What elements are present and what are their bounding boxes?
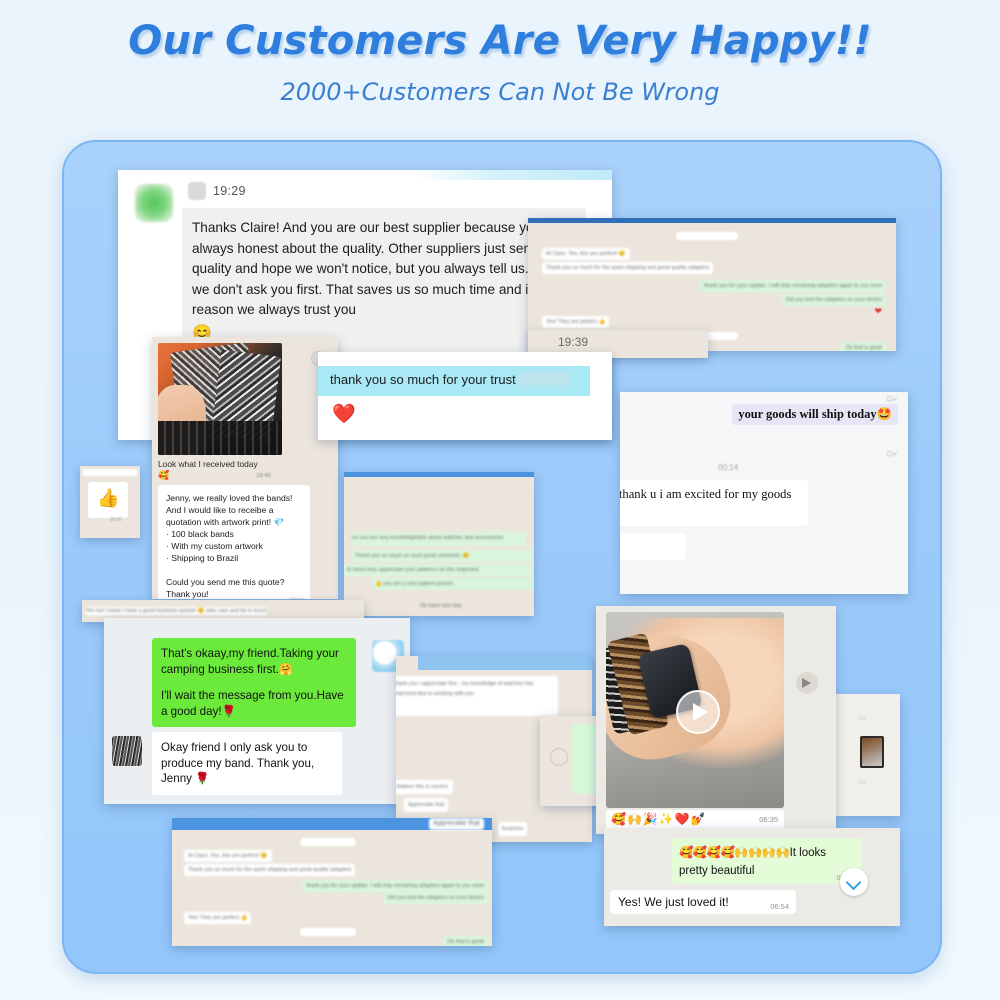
chat-line: thank you for your update. I will ship r… (700, 280, 886, 292)
date-pill (676, 232, 738, 240)
green-message-1: That's okaay,my friend.Taking your campi… (161, 646, 347, 677)
timestamp-label: 19:39 (558, 335, 588, 349)
read-receipt-icon: ☐✓ (887, 450, 898, 458)
cyan-message-bubble: thank you so much for your trust (318, 366, 590, 396)
chat-line: business (498, 822, 527, 836)
center-timestamp: 00:14 (718, 463, 738, 472)
forward-icon[interactable] (796, 672, 818, 694)
chat-line: Did you test the adapters on your device (384, 892, 489, 904)
green-message-2: I'll wait the message from you.Have a go… (161, 688, 347, 719)
page-subtitle: 2000+Customers Can Not Be Wrong (0, 64, 1000, 106)
card-header-bar (528, 218, 896, 223)
chat-line: Yes! They are perfect 👍 (184, 912, 251, 924)
message-timestamp: 20:58 (289, 598, 304, 599)
chat-line: thank you I appreciate this - my knowled… (396, 676, 558, 716)
white-message: Okay friend I only ask you to produce my… (161, 740, 333, 787)
sender-name-redacted (188, 182, 206, 200)
screenshot-card-received-bands: Look what I received today 🥰 18:40 Jenny… (152, 337, 338, 599)
chat-line: Thank you so much for the quick shipping… (542, 262, 713, 274)
caption-timestamp: 18:40 (256, 473, 271, 479)
top-note: Appreciate that (429, 818, 484, 830)
heart-reaction-icon: ❤️ (332, 402, 356, 426)
photo-caption: Look what I received today (158, 459, 258, 469)
chat-line: I believe this is correct. (396, 780, 453, 794)
avatar (112, 736, 142, 766)
incoming-bubble-1: Hi my bro thank u i am excited for my go… (620, 480, 808, 526)
thank-you-text: thank you so much for your trust (330, 372, 516, 387)
outgoing-green-bubble: That's okaay,my friend.Taking your campi… (152, 638, 356, 727)
chat-line: Ok that is great (443, 936, 488, 946)
screenshot-card-goods-shipping: ☐✓ your goods will ship today🤩 ☐✓ 00:14 … (620, 392, 908, 594)
thumbs-up-bubble: 👍 (88, 482, 128, 518)
chat-line: 👍 you are a very patient person. (372, 578, 532, 590)
outgoing-green-bubble: 🥰🥰🥰🥰🙌🙌🙌🙌It looks pretty beautiful 08:39 (672, 838, 862, 884)
chat-line: Ok that is great (841, 342, 886, 351)
keyboard (158, 421, 282, 455)
incoming-bubble-2: Thank u (620, 533, 686, 560)
chat-line: Hi Clare, Yes, this are perfect! 😊 (184, 850, 272, 862)
preview-line (83, 469, 137, 476)
card-top-strip (118, 170, 612, 180)
forward-icon[interactable] (550, 748, 568, 766)
read-receipt-icon: ☐✓ (858, 780, 867, 786)
thumbs-up-icon: 👍 (97, 488, 119, 509)
screenshot-card-thumbs-up: 👍 20:07 (80, 466, 140, 538)
page-header: Our Customers Are Very Happy!! 2000+Cust… (0, 0, 1000, 106)
page-title: Our Customers Are Very Happy!! (0, 0, 1000, 64)
celebration-emojis: 🥰🥰🥰🥰🙌🙌🙌🙌 (679, 847, 790, 859)
screenshot-card-camping-business: That's okaay,my friend.Taking your campi… (104, 618, 410, 804)
reaction-emojis: 🥰🙌🎉✨❤️💅 (611, 812, 707, 826)
caption-emoji: 🥰 (158, 470, 169, 481)
message-timestamp: 19:29 (213, 184, 246, 198)
screenshot-card-whatsapp-adapters-duplicate: Appreciate that Hi Clare, Yes, this are … (172, 818, 492, 946)
chat-line: Yes! They are perfect 👍 (542, 316, 609, 328)
chat-line: no you are very knowledgeable about watc… (352, 532, 526, 546)
read-receipt-icon: ☐✓ (858, 716, 867, 722)
read-receipt-icon: ☐✓ (887, 395, 898, 403)
outgoing-bubble: your goods will ship today🤩 (732, 404, 898, 425)
screenshot-card-knowledgeable-watches: no you are very knowledgeable about watc… (344, 472, 534, 616)
video-thumbnail[interactable] (606, 612, 784, 808)
chevron-down-icon[interactable] (840, 868, 868, 896)
message-text: Thanks Claire! And you are our best supp… (192, 218, 574, 321)
quote-request-bubble: Jenny, we really loved the bands! And I … (158, 485, 310, 599)
product-photo (158, 343, 282, 455)
screenshot-card-it-looks-beautiful: 🥰🥰🥰🥰🙌🙌🙌🙌It looks pretty beautiful 08:39 … (604, 828, 900, 926)
incoming-white-bubble: Yes! We just loved it! 06:54 (610, 890, 796, 914)
white-text: Yes! We just loved it! (618, 895, 729, 909)
chat-line: th heart,very appreciate your patience o… (344, 564, 532, 576)
incoming-white-bubble: Okay friend I only ask you to produce my… (152, 732, 342, 795)
screenshot-card-right-edge: ☐✓ ☐✓ (836, 694, 900, 816)
heart-icon: ❤ (874, 306, 882, 317)
video-timestamp: 06:35 (759, 815, 778, 824)
chat-line: Ok have nice day (420, 602, 462, 610)
quote-request-text: Jenny, we really loved the bands! And I … (166, 492, 302, 599)
chat-line: Thank you so much for the quick shipping… (184, 864, 355, 876)
card-header-bar (344, 472, 534, 477)
date-pill (300, 928, 356, 936)
reaction-bar: 🥰🙌🎉✨❤️💅 06:35 (606, 810, 784, 830)
screenshot-card-thank-you-trust: thank you so much for your trust ❤️ (318, 352, 612, 440)
message-timestamp: 20:07 (110, 517, 123, 523)
card-header-bar (418, 656, 592, 670)
screenshot-card-watch-video: 🥰🙌🎉✨❤️💅 06:35 (596, 606, 836, 834)
date-pill (300, 838, 356, 846)
chat-line: thank you for your update. I will ship r… (302, 880, 488, 892)
play-icon[interactable] (676, 690, 720, 734)
chat-line: Appreciate that (404, 798, 448, 812)
avatar (135, 184, 173, 222)
chat-line: Thank you so much on such good comment. … (352, 550, 532, 562)
message-timestamp: 06:54 (770, 902, 789, 911)
thumbnail-image (860, 736, 884, 768)
chat-line: Yes but I know I have a good business pa… (86, 607, 267, 615)
chat-line: Hi Clare, Yes, this are perfect! 😊 (542, 248, 630, 260)
redacted-name (518, 372, 570, 386)
chat-line: Did you test the adapters on your device (782, 294, 887, 306)
